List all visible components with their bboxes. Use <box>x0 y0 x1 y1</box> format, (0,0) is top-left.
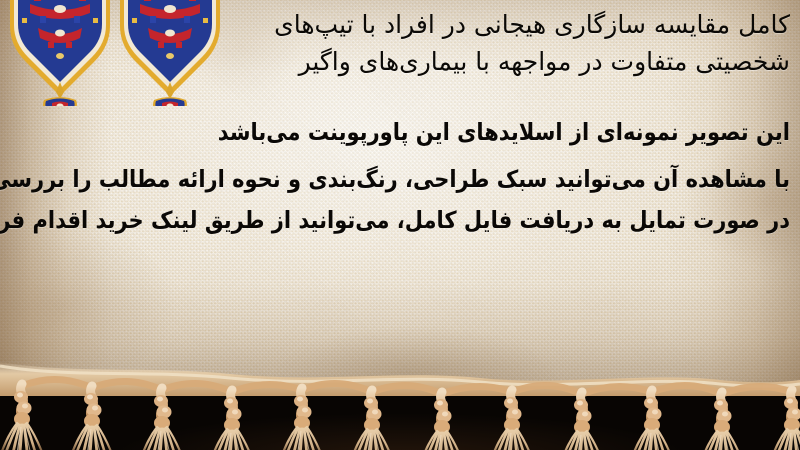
carpet-knotted-fringe <box>0 352 800 450</box>
slide-title: کامل مقایسه سازگاری هیجانی در افراد با ت… <box>230 6 790 80</box>
body-line-sample-notice: این تصویر نمونه‌ای از اسلایدهای این پاور… <box>8 110 790 156</box>
slide-body: این تصویر نمونه‌ای از اسلایدهای این پاور… <box>8 112 790 241</box>
ornament-group <box>0 0 240 106</box>
slide-title-line: کامل مقایسه سازگاری هیجانی در افراد با ت… <box>230 6 790 43</box>
body-line-purchase-link: در صورت تمایل به دریافت فایل کامل، می‌تو… <box>8 198 790 244</box>
fringe-tassel <box>282 388 322 450</box>
body-line-design-review: با مشاهده آن می‌توانید سبک طراحی، رنگ‌بن… <box>8 157 790 203</box>
fringe-tassel <box>142 388 182 450</box>
fringe-tassel <box>492 390 532 450</box>
fringe-tassel <box>562 392 602 450</box>
slide-canvas: کامل مقایسه سازگاری هیجانی در افراد با ت… <box>0 0 800 450</box>
persian-medallion-ornament <box>118 0 222 106</box>
fringe-tassel <box>632 390 672 450</box>
fringe-tassel <box>352 390 392 450</box>
fringe-tassel <box>422 392 462 450</box>
fringe-tassel <box>702 392 742 450</box>
fringe-tassel <box>772 390 800 450</box>
fringe-tassel <box>212 390 252 450</box>
slide-title-line: شخصیتی متفاوت در مواجهه با بیماری‌های وا… <box>230 43 790 80</box>
persian-medallion-ornament <box>8 0 112 106</box>
